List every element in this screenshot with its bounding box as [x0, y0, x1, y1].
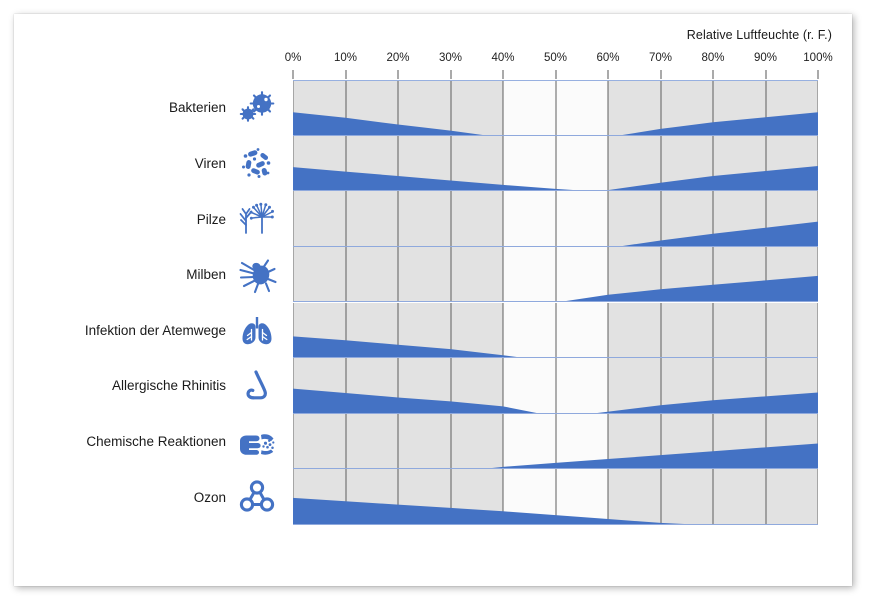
chart-row-ozon — [293, 469, 818, 525]
axis-tick-mark-100 — [818, 70, 819, 79]
row-label-text: Chemische Reaktionen — [86, 434, 235, 449]
axis-tick-label-100: 100% — [803, 52, 832, 64]
chart-row-chemische-reaktionen — [293, 414, 818, 470]
row-label-pilze: Pilze — [14, 191, 279, 247]
row-label-text: Ozon — [194, 490, 235, 505]
chart-plot-area — [293, 80, 818, 525]
chart-row-viren — [293, 136, 818, 192]
axis-tick-label-60: 60% — [596, 52, 619, 64]
chart-card: Relative Luftfeuchte (r. F.) 0%10%20%30%… — [14, 14, 852, 586]
row-label-text: Pilze — [197, 212, 235, 227]
axis-tick-mark-80 — [713, 70, 714, 79]
axis-tick-mark-30 — [450, 70, 451, 79]
chart-row-allergische-rhinitis — [293, 358, 818, 414]
axis-tick-label-20: 20% — [386, 52, 409, 64]
axis-tick-mark-10 — [345, 70, 346, 79]
data-band — [293, 303, 818, 359]
row-label-text: Viren — [195, 156, 235, 171]
axis-tick-mark-20 — [398, 70, 399, 79]
row-label-bakterien: Bakterien — [14, 80, 279, 136]
ozone-icon — [235, 475, 279, 519]
plot-top-border — [293, 80, 818, 81]
axis-tick-mark-70 — [660, 70, 661, 79]
hand-particles-icon — [235, 420, 279, 464]
row-label-viren: Viren — [14, 136, 279, 192]
row-label-infektion-der-atemwege: Infektion der Atemwege — [14, 303, 279, 359]
axis-tick-label-70: 70% — [649, 52, 672, 64]
axis-title: Relative Luftfeuchte (r. F.) — [687, 28, 832, 42]
axis-tick-mark-40 — [503, 70, 504, 79]
data-band — [293, 414, 818, 470]
bacteria-icon — [235, 86, 279, 130]
mite-icon — [235, 253, 279, 297]
row-label-text: Bakterien — [169, 100, 235, 115]
axis-tick-label-50: 50% — [544, 52, 567, 64]
row-label-chemische-reaktionen: Chemische Reaktionen — [14, 414, 279, 470]
row-label-ozon: Ozon — [14, 469, 279, 525]
chart-row-milben — [293, 247, 818, 303]
virus-icon — [235, 141, 279, 185]
chart-row-pilze — [293, 191, 818, 247]
data-band — [293, 358, 818, 414]
nose-icon — [235, 364, 279, 408]
row-label-allergische-rhinitis: Allergische Rhinitis — [14, 358, 279, 414]
data-band — [293, 247, 818, 303]
axis-tick-label-30: 30% — [439, 52, 462, 64]
row-label-text: Infektion der Atemwege — [85, 323, 235, 338]
data-band — [293, 191, 818, 247]
row-separator — [293, 524, 818, 525]
data-band — [293, 136, 818, 192]
chart-row-bakterien — [293, 80, 818, 136]
axis-tick-mark-90 — [765, 70, 766, 79]
data-band — [293, 469, 818, 525]
row-label-text: Milben — [186, 267, 235, 282]
row-label-milben: Milben — [14, 247, 279, 303]
axis-tick-label-0: 0% — [285, 52, 302, 64]
axis-tick-label-90: 90% — [754, 52, 777, 64]
data-band — [293, 80, 818, 136]
fungus-icon — [235, 197, 279, 241]
axis-tick-mark-60 — [608, 70, 609, 79]
axis-tick-mark-0 — [293, 70, 294, 79]
axis-tick-mark-50 — [555, 70, 556, 79]
row-label-column: Bakterien Viren — [14, 80, 279, 525]
chart-row-infektion-der-atemwege — [293, 303, 818, 359]
lungs-icon — [235, 308, 279, 352]
row-label-text: Allergische Rhinitis — [112, 378, 235, 393]
axis-tick-label-40: 40% — [491, 52, 514, 64]
axis-tick-label-10: 10% — [334, 52, 357, 64]
axis-tick-label-80: 80% — [701, 52, 724, 64]
axis-tick-labels: 0%10%20%30%40%50%60%70%80%90%100% — [293, 52, 818, 80]
